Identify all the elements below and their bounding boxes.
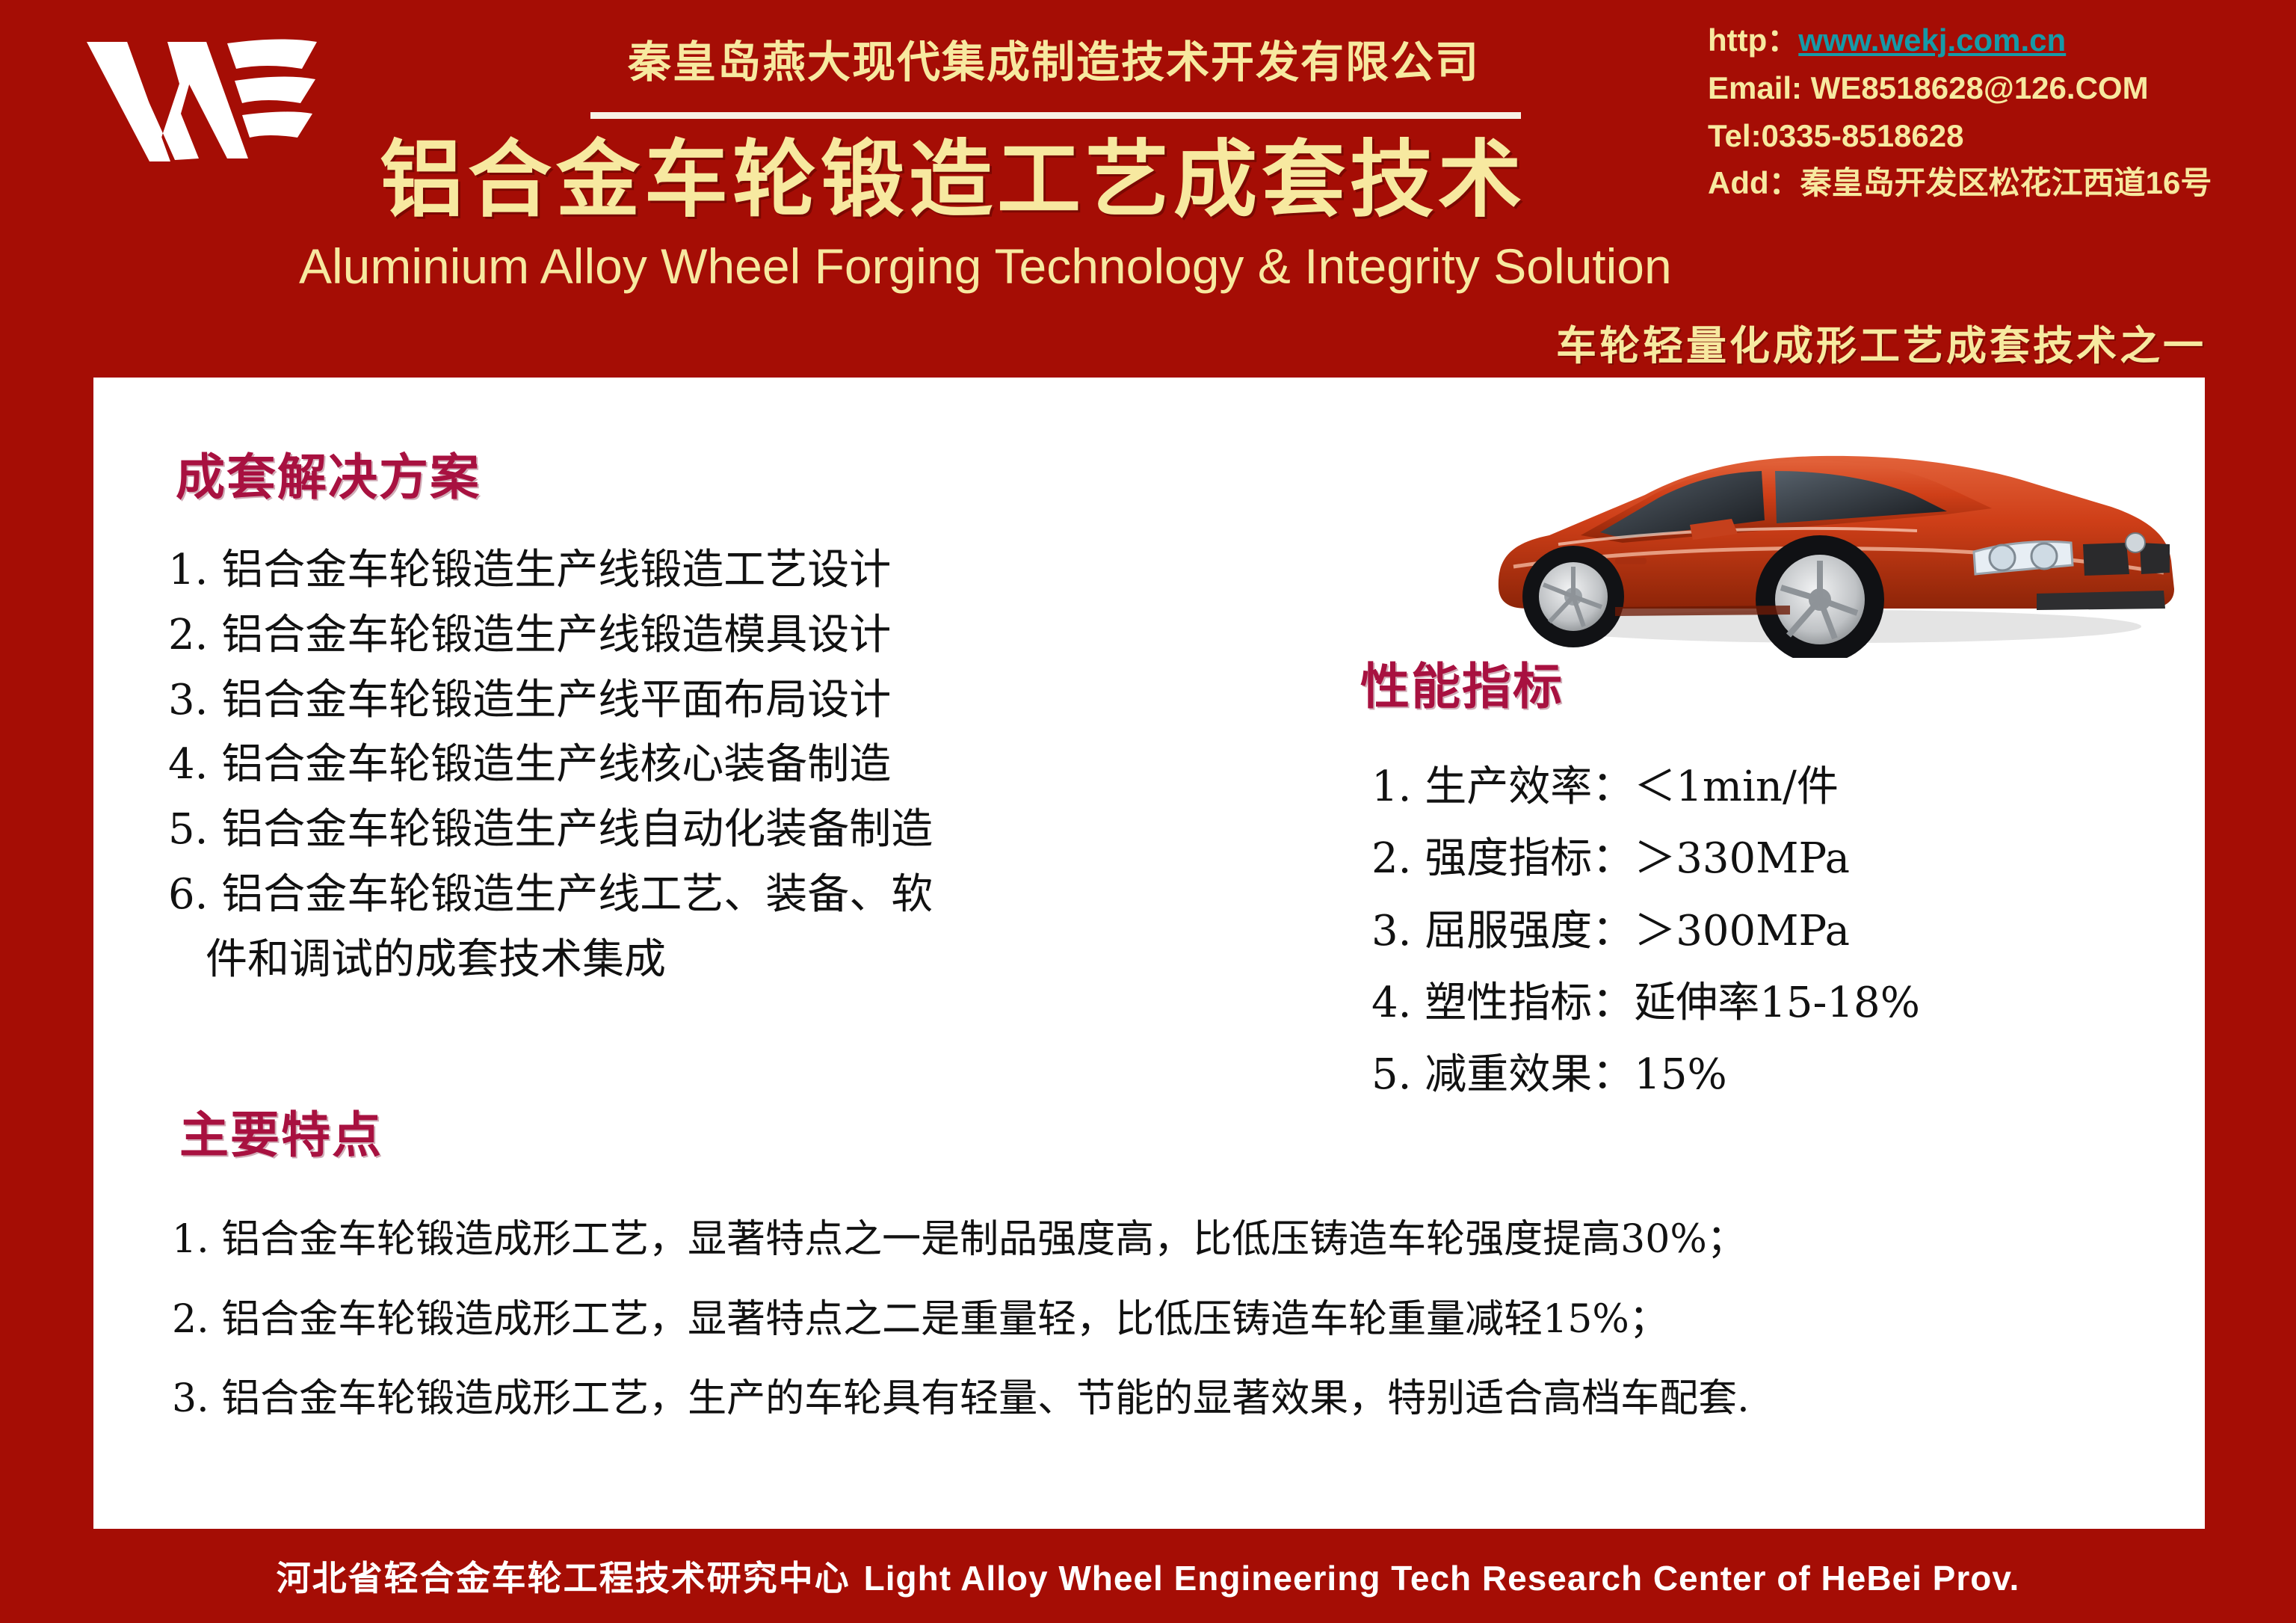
list-item: 1. 铝合金车轮锻造生产线锻造工艺设计 [168,538,1289,603]
solution-list: 1. 铝合金车轮锻造生产线锻造工艺设计 2. 铝合金车轮锻造生产线锻造模具设计 … [168,538,1289,993]
list-item-text: 铝合金车轮锻造成形工艺，显著特点之二是重量轻，比低压铸造车轮重量减轻15%； [221,1297,1668,1342]
page-title: 铝合金车轮锻造工艺成套技术 [299,136,1607,224]
list-item-number: 6. [168,870,208,919]
list-item-text: 铝合金车轮锻造生产线锻造工艺设计 [221,546,891,594]
list-item-continuation: 件和调试的成套技术集成 [168,928,1289,993]
list-item-number: 3. [1371,907,1411,955]
website-link[interactable]: www.wekj.com.cn [1798,22,2066,58]
list-item: 6. 铝合金车轮锻造生产线工艺、装备、软 件和调试的成套技术集成 [168,863,1289,993]
features-list: 1. 铝合金车轮锻造成形工艺，显著特点之一是制品强度高，比低压铸造车轮强度提高3… [172,1200,2167,1439]
list-item: 2. 强度指标：＞330MPa [1371,823,2164,895]
footer-text-en: Light Alloy Wheel Engineering Tech Resea… [864,1559,2020,1598]
list-item-text: 强度指标：＞330MPa [1425,834,1850,883]
list-item: 2. 铝合金车轮锻造生产线锻造模具设计 [168,603,1289,668]
section-heading-features: 主要特点 [179,1095,383,1167]
footer-text-cn: 河北省轻合金车轮工程技术研究中心 [277,1559,851,1598]
section-heading-performance: 性能指标 [1360,647,1564,718]
list-item: 2. 铝合金车轮锻造成形工艺，显著特点之二是重量轻，比低压铸造车轮重量减轻15%… [172,1280,2167,1360]
list-item-number: 5. [1371,1050,1411,1099]
list-item: 1. 生产效率：＜1min/件 [1371,751,2164,823]
list-item-text: 生产效率：＜1min/件 [1425,763,1839,811]
list-item-number: 5. [168,805,208,854]
list-item: 5. 减重效果：15% [1371,1039,2164,1111]
list-item-number: 4. [168,740,208,789]
list-item: 3. 铝合金车轮锻造生产线平面布局设计 [168,668,1289,733]
list-item: 3. 屈服强度：＞300MPa [1371,896,2164,967]
http-label: http： [1708,22,1798,58]
list-item-text: 铝合金车轮锻造生产线自动化装备制造 [221,805,933,854]
contact-block: http：www.wekj.com.cn Email: WE8518628@12… [1708,16,2212,207]
list-item-text: 铝合金车轮锻造生产线核心装备制造 [221,740,891,789]
company-logo-we-icon [81,25,320,164]
content-panel: 成套解决方案 1. 铝合金车轮锻造生产线锻造工艺设计 2. 铝合金车轮锻造生产线… [93,378,2205,1529]
contact-website-line: http：www.wekj.com.cn [1708,16,2212,64]
list-item-text: 铝合金车轮锻造生产线平面布局设计 [221,676,891,724]
list-item-text: 铝合金车轮锻造生产线锻造模具设计 [221,611,891,659]
company-name: 秦皇岛燕大现代集成制造技术开发有限公司 [568,40,1540,86]
list-item-number: 1. [168,546,208,594]
page-subtitle: Aluminium Alloy Wheel Forging Technology… [299,241,1607,292]
car-photo [1469,411,2201,658]
section-heading-solution: 成套解决方案 [176,437,481,509]
list-item-number: 2. [168,611,208,659]
performance-list: 1. 生产效率：＜1min/件 2. 强度指标：＞330MPa 3. 屈服强度：… [1371,751,2164,1112]
list-item: 4. 塑性指标：延伸率15-18% [1371,967,2164,1039]
list-item-number: 2. [172,1297,209,1342]
list-item-number: 2. [1371,834,1411,883]
list-item-number: 1. [172,1217,209,1262]
header-divider-rule [590,112,1521,119]
list-item: 5. 铝合金车轮锻造生产线自动化装备制造 [168,798,1289,863]
list-item-number: 1. [1371,763,1411,811]
list-item: 3. 铝合金车轮锻造成形工艺，生产的车轮具有轻量、节能的显著效果，特别适合高档车… [172,1359,2167,1439]
list-item-number: 3. [172,1376,209,1421]
poster-root: 秦皇岛燕大现代集成制造技术开发有限公司 铝合金车轮锻造工艺成套技术 Alumin… [0,0,2296,1623]
contact-email-line: Email: WE8518628@126.COM [1708,64,2212,112]
list-item: 1. 铝合金车轮锻造成形工艺，显著特点之一是制品强度高，比低压铸造车轮强度提高3… [172,1200,2167,1280]
contact-address-line: Add：秦皇岛开发区松花江西道16号 [1708,159,2212,207]
list-item-number: 4. [1371,979,1411,1027]
list-item: 4. 铝合金车轮锻造生产线核心装备制造 [168,733,1289,798]
contact-tel-line: Tel:0335-8518628 [1708,112,2212,160]
list-item-text: 屈服强度：＞300MPa [1425,907,1850,955]
footer-bar: 河北省轻合金车轮工程技术研究中心Light Alloy Wheel Engine… [0,1551,2296,1601]
list-item-text: 减重效果：15% [1425,1050,1726,1099]
header-tagline: 车轮轻量化成形工艺成套技术之一 [1556,312,2206,372]
list-item-number: 3. [168,676,208,724]
list-item-text: 铝合金车轮锻造成形工艺，显著特点之一是制品强度高，比低压铸造车轮强度提高30%； [221,1217,1746,1262]
list-item-text: 铝合金车轮锻造成形工艺，生产的车轮具有轻量、节能的显著效果，特别适合高档车配套. [221,1376,1750,1421]
list-item-text: 塑性指标：延伸率15-18% [1425,979,1920,1027]
list-item-text: 铝合金车轮锻造生产线工艺、装备、软 [221,870,933,919]
